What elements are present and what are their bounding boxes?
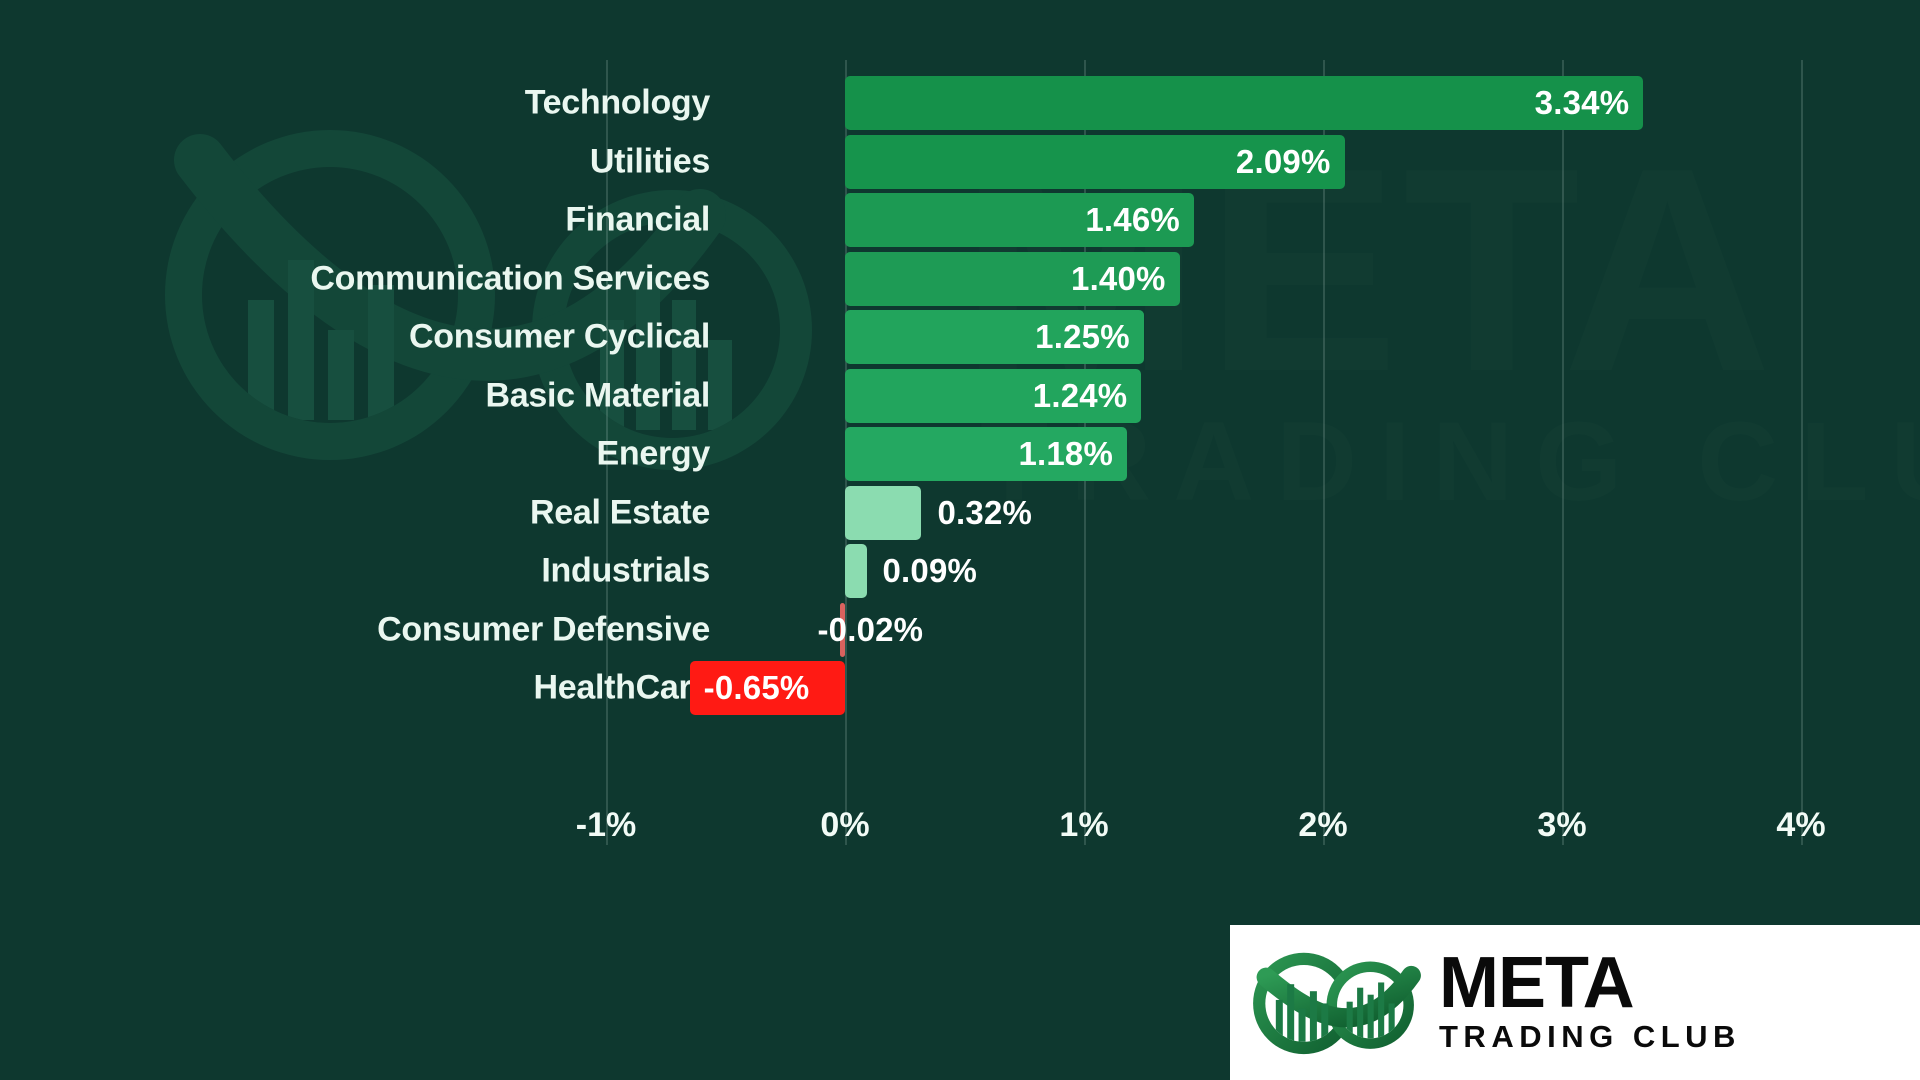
bar-value-label: 0.09% (883, 552, 978, 590)
logo-wordmark: META TRADING CLUB (1439, 950, 1741, 1054)
category-label: Utilities (0, 142, 710, 181)
logo-brand-text: META (1439, 950, 1741, 1016)
x-axis-tick-label: 2% (1298, 806, 1347, 845)
x-axis-tick-label: 0% (820, 806, 869, 845)
bar-value-label: 1.46% (1085, 201, 1180, 239)
infinity-candlestick-logo-icon (1248, 944, 1433, 1062)
category-label: Real Estate (0, 493, 710, 532)
category-label: Energy (0, 435, 710, 474)
category-label: Communication Services (0, 259, 710, 298)
category-label: Consumer Defensive (0, 610, 710, 649)
logo-tagline-text: TRADING CLUB (1439, 1019, 1741, 1055)
chart-bar-row: Industrials0.09% (845, 540, 1815, 602)
chart-bar-row: Technology3.34% (845, 72, 1815, 134)
bar-value-label: -0.65% (704, 669, 810, 707)
category-label: Industrials (0, 552, 710, 591)
chart-bar-row: HealthCare-0.65% (845, 657, 1815, 719)
plot-area: Technology3.34%Utilities2.09%Financial1.… (845, 72, 1815, 842)
chart-bar-row: Energy1.18% (845, 423, 1815, 485)
bar-value-label: -0.02% (817, 611, 824, 649)
sector-performance-bar-chart: Technology3.34%Utilities2.09%Financial1.… (0, 0, 1920, 1080)
category-label: Consumer Cyclical (0, 318, 710, 357)
meta-trading-club-logo: META TRADING CLUB (1230, 925, 1920, 1080)
bar-value-label: 0.32% (937, 494, 1032, 532)
bar (845, 76, 1643, 130)
x-axis-tick-label: 3% (1537, 806, 1586, 845)
chart-bar-row: Financial1.46% (845, 189, 1815, 251)
chart-bar-row: Consumer Defensive-0.02% (845, 599, 1815, 661)
chart-bar-row: Consumer Cyclical1.25% (845, 306, 1815, 368)
bar-value-label: 1.18% (1018, 435, 1113, 473)
bar-value-label: 3.34% (1535, 84, 1630, 122)
chart-bar-row: Communication Services1.40% (845, 248, 1815, 310)
chart-bar-row: Utilities2.09% (845, 131, 1815, 193)
category-label: Basic Material (0, 376, 710, 415)
bar-value-label: 1.25% (1035, 318, 1130, 356)
bar (845, 544, 867, 598)
chart-bar-row: Real Estate0.32% (845, 482, 1815, 544)
x-axis-tick-label: 4% (1776, 806, 1825, 845)
category-label: Technology (0, 84, 710, 123)
x-axis-tick-label: -1% (576, 806, 636, 845)
category-label: Financial (0, 201, 710, 240)
x-axis-tick-label: 1% (1059, 806, 1108, 845)
bar (845, 486, 921, 540)
bar-value-label: 2.09% (1236, 143, 1331, 181)
bar-value-label: 1.24% (1033, 377, 1128, 415)
category-label: HealthCare (0, 669, 710, 708)
chart-bar-row: Basic Material1.24% (845, 365, 1815, 427)
bar-value-label: 1.40% (1071, 260, 1166, 298)
